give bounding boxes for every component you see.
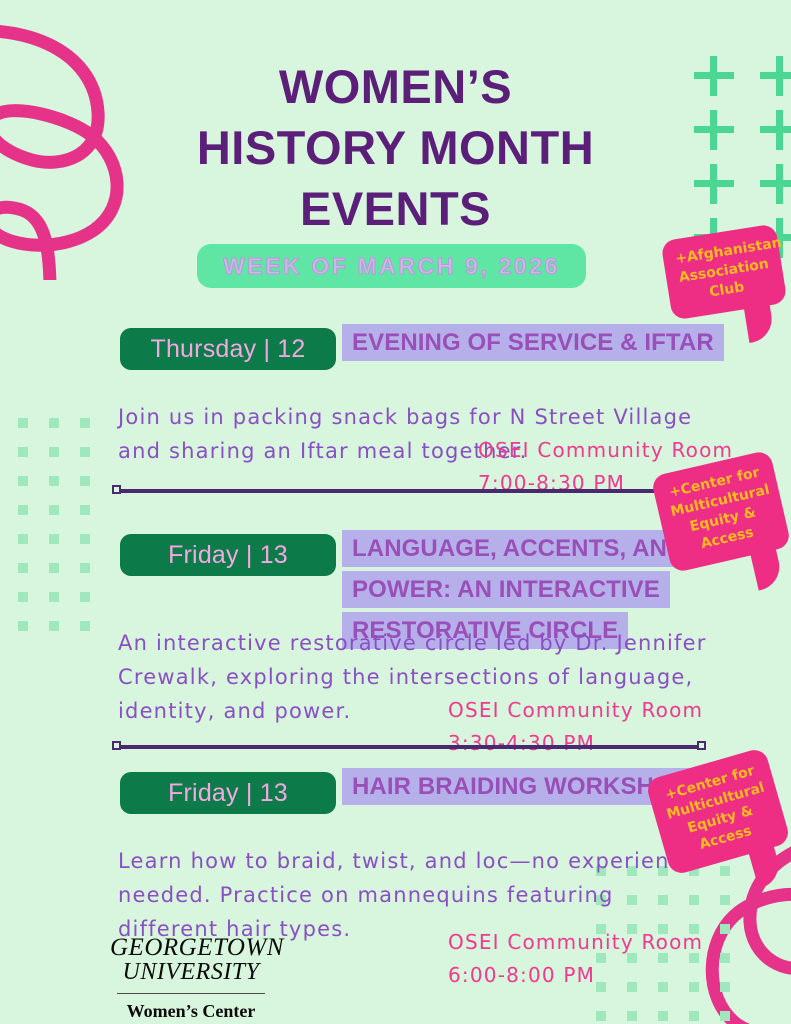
event-partner-label: +Center for Multicultural Equity & Acces… (663, 763, 766, 853)
dot-icon (720, 866, 730, 876)
event-partner-label: +Afghanistan Association Club (674, 235, 782, 301)
bubble-tail-icon (746, 837, 784, 888)
divider-cap-right-icon (697, 741, 706, 750)
dot-icon (80, 447, 90, 457)
event-location: OSEI Community Room (478, 434, 733, 467)
logo-line-university: UNIVERSITY (110, 960, 272, 984)
event-partner-bubble: +Afghanistan Association Club (660, 223, 787, 320)
event-location: OSEI Community Room (448, 926, 703, 959)
dot-icon (720, 1011, 730, 1021)
event-partner-label: +Center for Multicultural Equity & Acces… (668, 465, 771, 553)
dot-decoration-grid-left (18, 418, 111, 650)
event-title-text: HAIR BRAIDING WORKSHOP (352, 768, 689, 805)
dot-icon (720, 895, 730, 905)
event-date-pill: Friday | 13 (120, 534, 336, 576)
dot-icon (18, 447, 28, 457)
poster-canvas: WOMEN’S HISTORY MONTH EVENTS WEEK OF MAR… (0, 0, 791, 1024)
week-banner: WEEK OF MARCH 9, 2026 (197, 244, 586, 288)
dot-icon (49, 563, 59, 573)
section-divider (118, 745, 700, 749)
dot-icon (596, 1011, 606, 1021)
week-banner-label: WEEK OF MARCH 9, 2026 (223, 253, 560, 280)
event-title: HAIR BRAIDING WORKSHOP (352, 766, 689, 807)
dot-icon (18, 505, 28, 515)
georgetown-womens-center-logo: GEORGETOWN UNIVERSITY Women’s Center (110, 936, 272, 1022)
divider-cap-left-icon (112, 741, 121, 750)
event-meta: OSEI Community Room 6:00-8:00 PM (448, 926, 703, 992)
event-time: 3:30-4:30 PM (448, 727, 703, 760)
dot-icon (18, 476, 28, 486)
section-divider (118, 489, 708, 493)
event-date-label: Thursday | 12 (150, 335, 305, 364)
title-line-2: HISTORY MONTH (0, 117, 791, 178)
event-title-text: EVENING OF SERVICE & IFTAR (352, 324, 714, 361)
title-line-1: WOMEN’S (0, 56, 791, 117)
event-title: EVENING OF SERVICE & IFTAR (352, 322, 714, 363)
dot-icon (80, 621, 90, 631)
dot-icon (80, 534, 90, 544)
dot-icon (689, 1011, 699, 1021)
dot-icon (18, 592, 28, 602)
title-line-3: EVENTS (0, 178, 791, 239)
dot-icon (49, 418, 59, 428)
dot-icon (80, 476, 90, 486)
page-title: WOMEN’S HISTORY MONTH EVENTS (0, 56, 791, 239)
dot-icon (720, 982, 730, 992)
event-meta: OSEI Community Room 3:30-4:30 PM (448, 694, 703, 760)
dot-icon (49, 447, 59, 457)
dot-icon (18, 621, 28, 631)
dot-icon (49, 476, 59, 486)
dot-icon (627, 1011, 637, 1021)
dot-icon (80, 563, 90, 573)
logo-line-georgetown: GEORGETOWN (110, 936, 272, 960)
dot-icon (80, 418, 90, 428)
event-location: OSEI Community Room (448, 694, 703, 727)
bubble-tail-icon (748, 540, 784, 591)
dot-icon (18, 534, 28, 544)
dot-icon (49, 592, 59, 602)
dot-icon (18, 563, 28, 573)
event-time: 6:00-8:00 PM (448, 959, 703, 992)
logo-divider (117, 993, 265, 994)
dot-icon (720, 953, 730, 963)
event-date-pill: Friday | 13 (120, 772, 336, 814)
dot-icon (18, 418, 28, 428)
divider-cap-left-icon (112, 485, 121, 494)
dot-icon (49, 534, 59, 544)
dot-icon (80, 592, 90, 602)
dot-icon (658, 1011, 668, 1021)
dot-icon (80, 505, 90, 515)
dot-icon (720, 924, 730, 934)
event-date-pill: Thursday | 12 (120, 328, 336, 370)
logo-subtitle: Women’s Center (110, 1001, 272, 1022)
event-date-label: Friday | 13 (168, 541, 288, 570)
bubble-tail-icon (742, 293, 775, 343)
event-date-label: Friday | 13 (168, 779, 288, 808)
dot-icon (49, 621, 59, 631)
dot-icon (49, 505, 59, 515)
